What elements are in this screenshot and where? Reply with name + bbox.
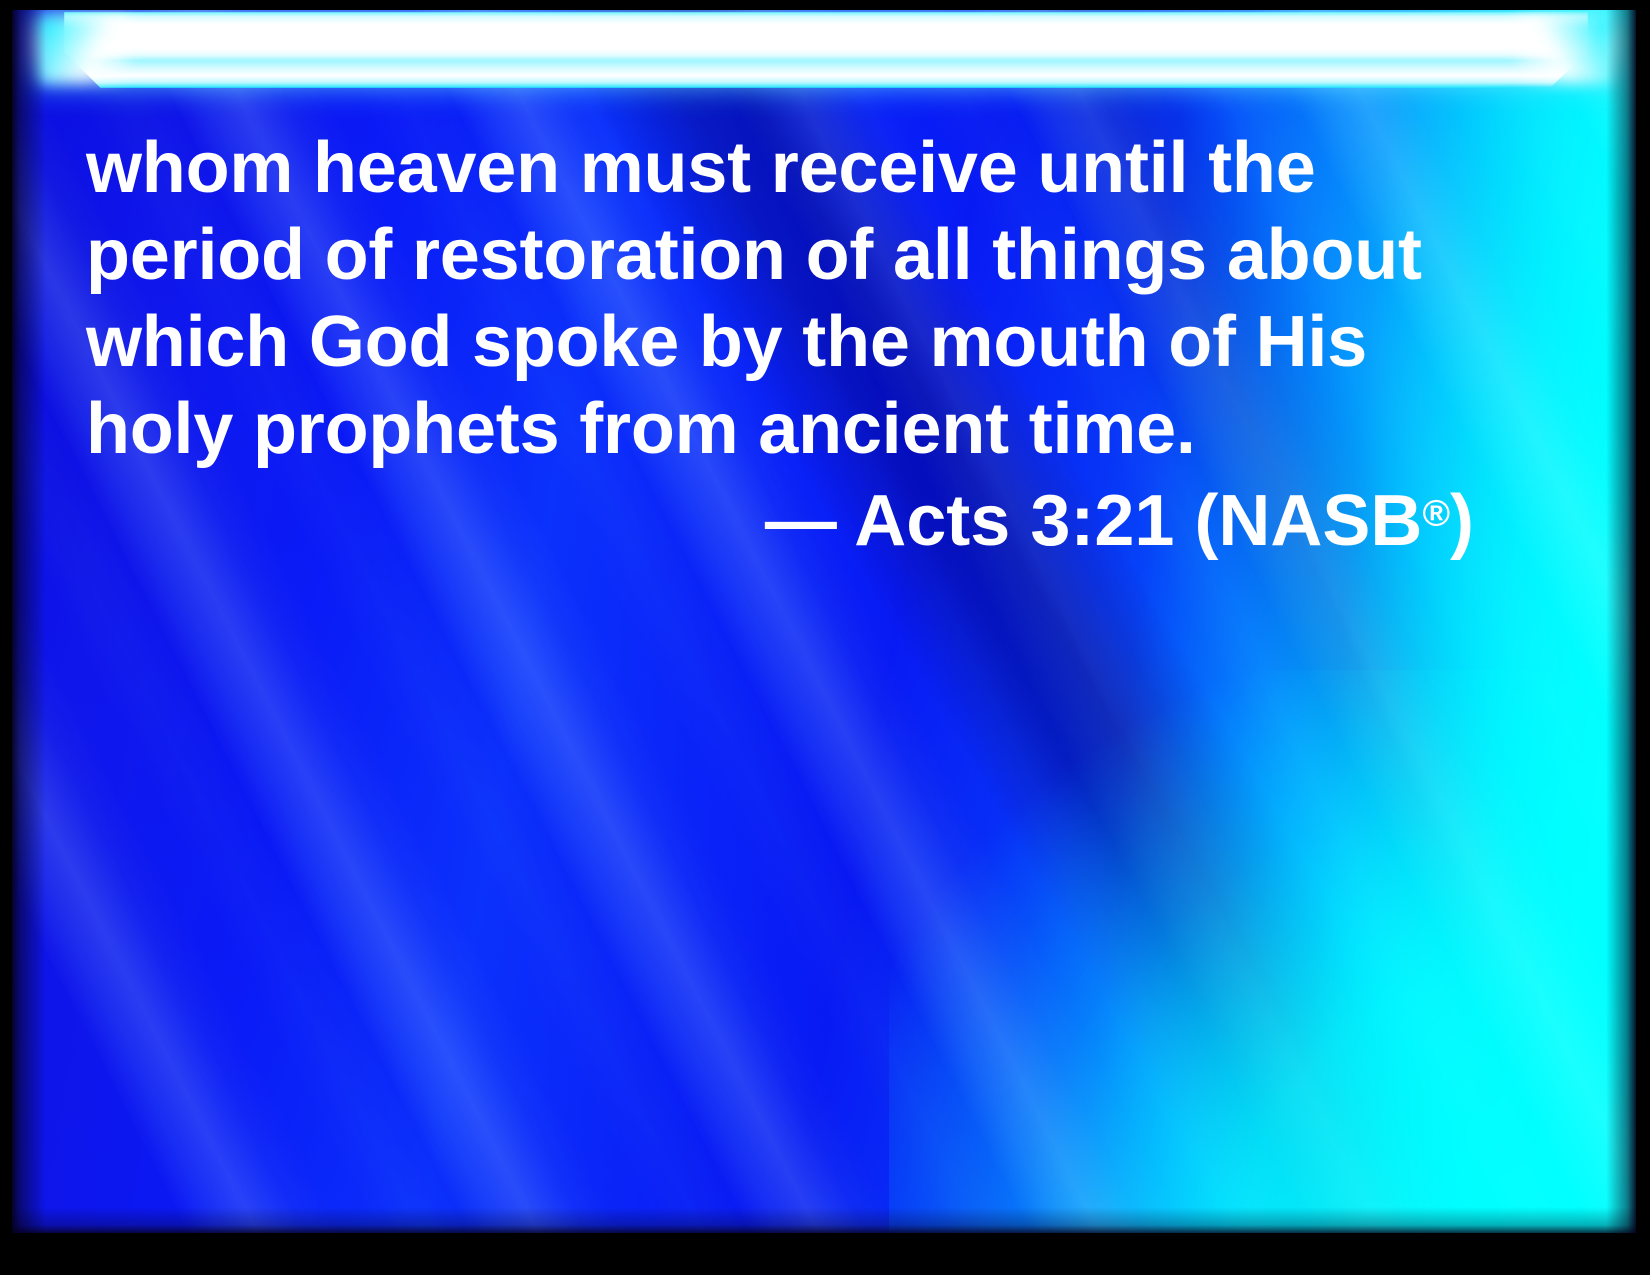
scripture-slide: whom heaven must receive until the perio… — [0, 0, 1650, 1275]
background-cyan-corner-glow — [889, 670, 1636, 1233]
verse-block: whom heaven must receive until the perio… — [86, 125, 1486, 567]
verse-body-text: whom heaven must receive until the perio… — [86, 125, 1486, 473]
verse-reference: — Acts 3:21 (NASB®) — [86, 473, 1486, 567]
slide-panel: whom heaven must receive until the perio… — [12, 10, 1636, 1233]
reference-em-dash: — — [765, 481, 837, 561]
reference-citation: Acts 3:21 — [854, 481, 1174, 561]
reference-translation-close: ) — [1450, 481, 1474, 561]
registered-trademark-icon: ® — [1422, 492, 1450, 534]
reference-translation-open: (NASB — [1194, 481, 1422, 561]
